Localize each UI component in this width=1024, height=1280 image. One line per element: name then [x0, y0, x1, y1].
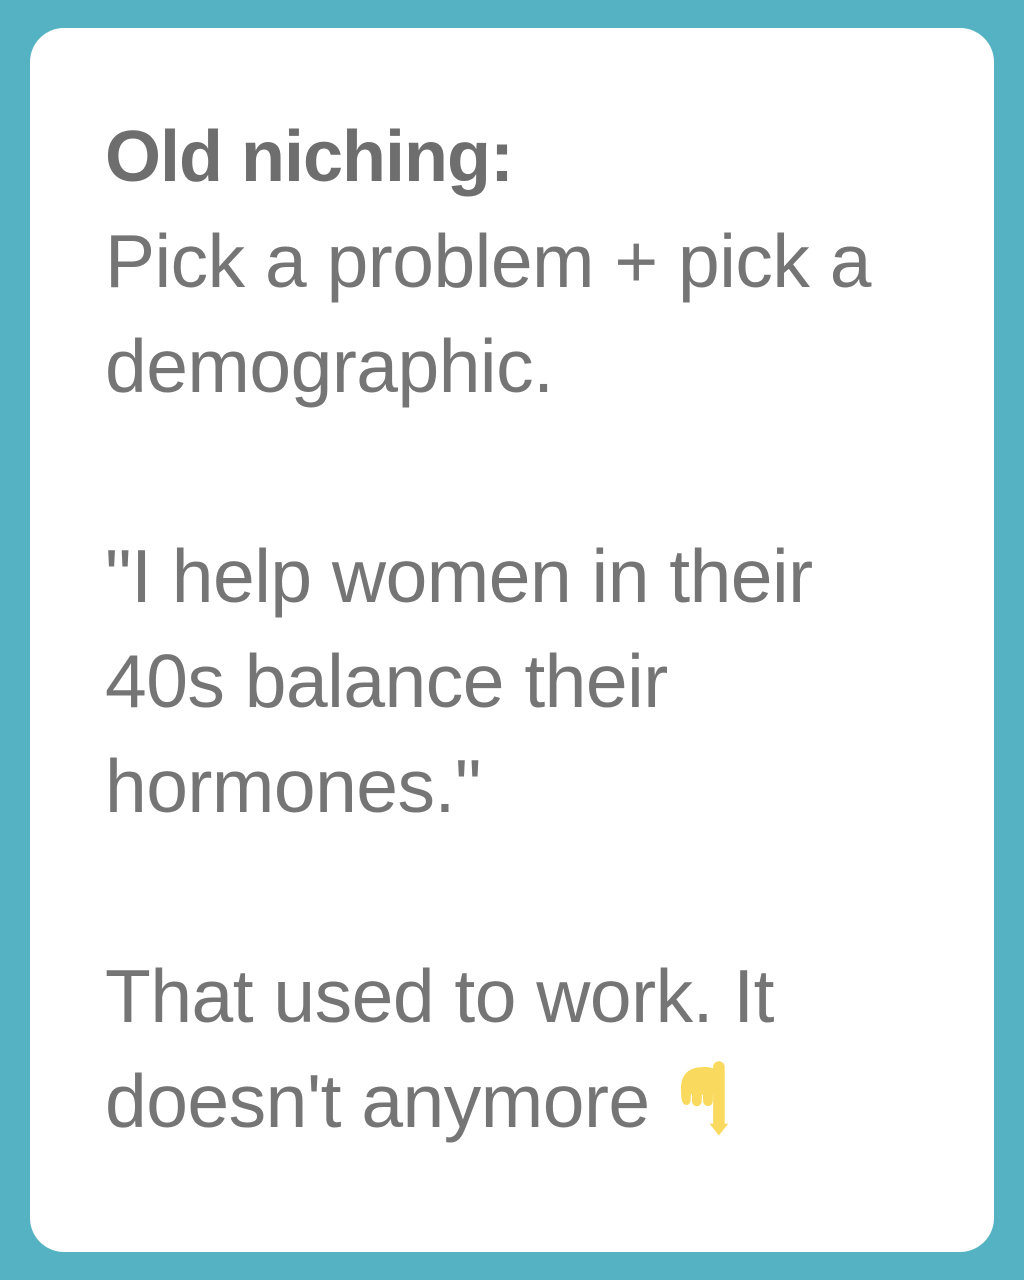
- page-title: Old niching:: [105, 106, 935, 209]
- paragraph-closing-line: That used to work. It doesn't anymore: [105, 944, 935, 1154]
- paragraph-example-quote: "I help women in their 40s balance their…: [105, 524, 935, 839]
- quote-card: Old niching:Pick a problem + pick a demo…: [30, 28, 994, 1252]
- backhand-index-pointing-down-icon: [676, 1059, 748, 1137]
- paragraph-old-niching-body: Pick a problem + pick a demographic.: [105, 219, 891, 408]
- paragraph-spacer-2: [105, 839, 935, 944]
- card-copy: Old niching:Pick a problem + pick a demo…: [105, 106, 935, 1154]
- paragraph-old-niching: Old niching:Pick a problem + pick a demo…: [105, 106, 935, 419]
- poster-canvas: Old niching:Pick a problem + pick a demo…: [0, 0, 1024, 1280]
- paragraph-spacer-1: [105, 419, 935, 524]
